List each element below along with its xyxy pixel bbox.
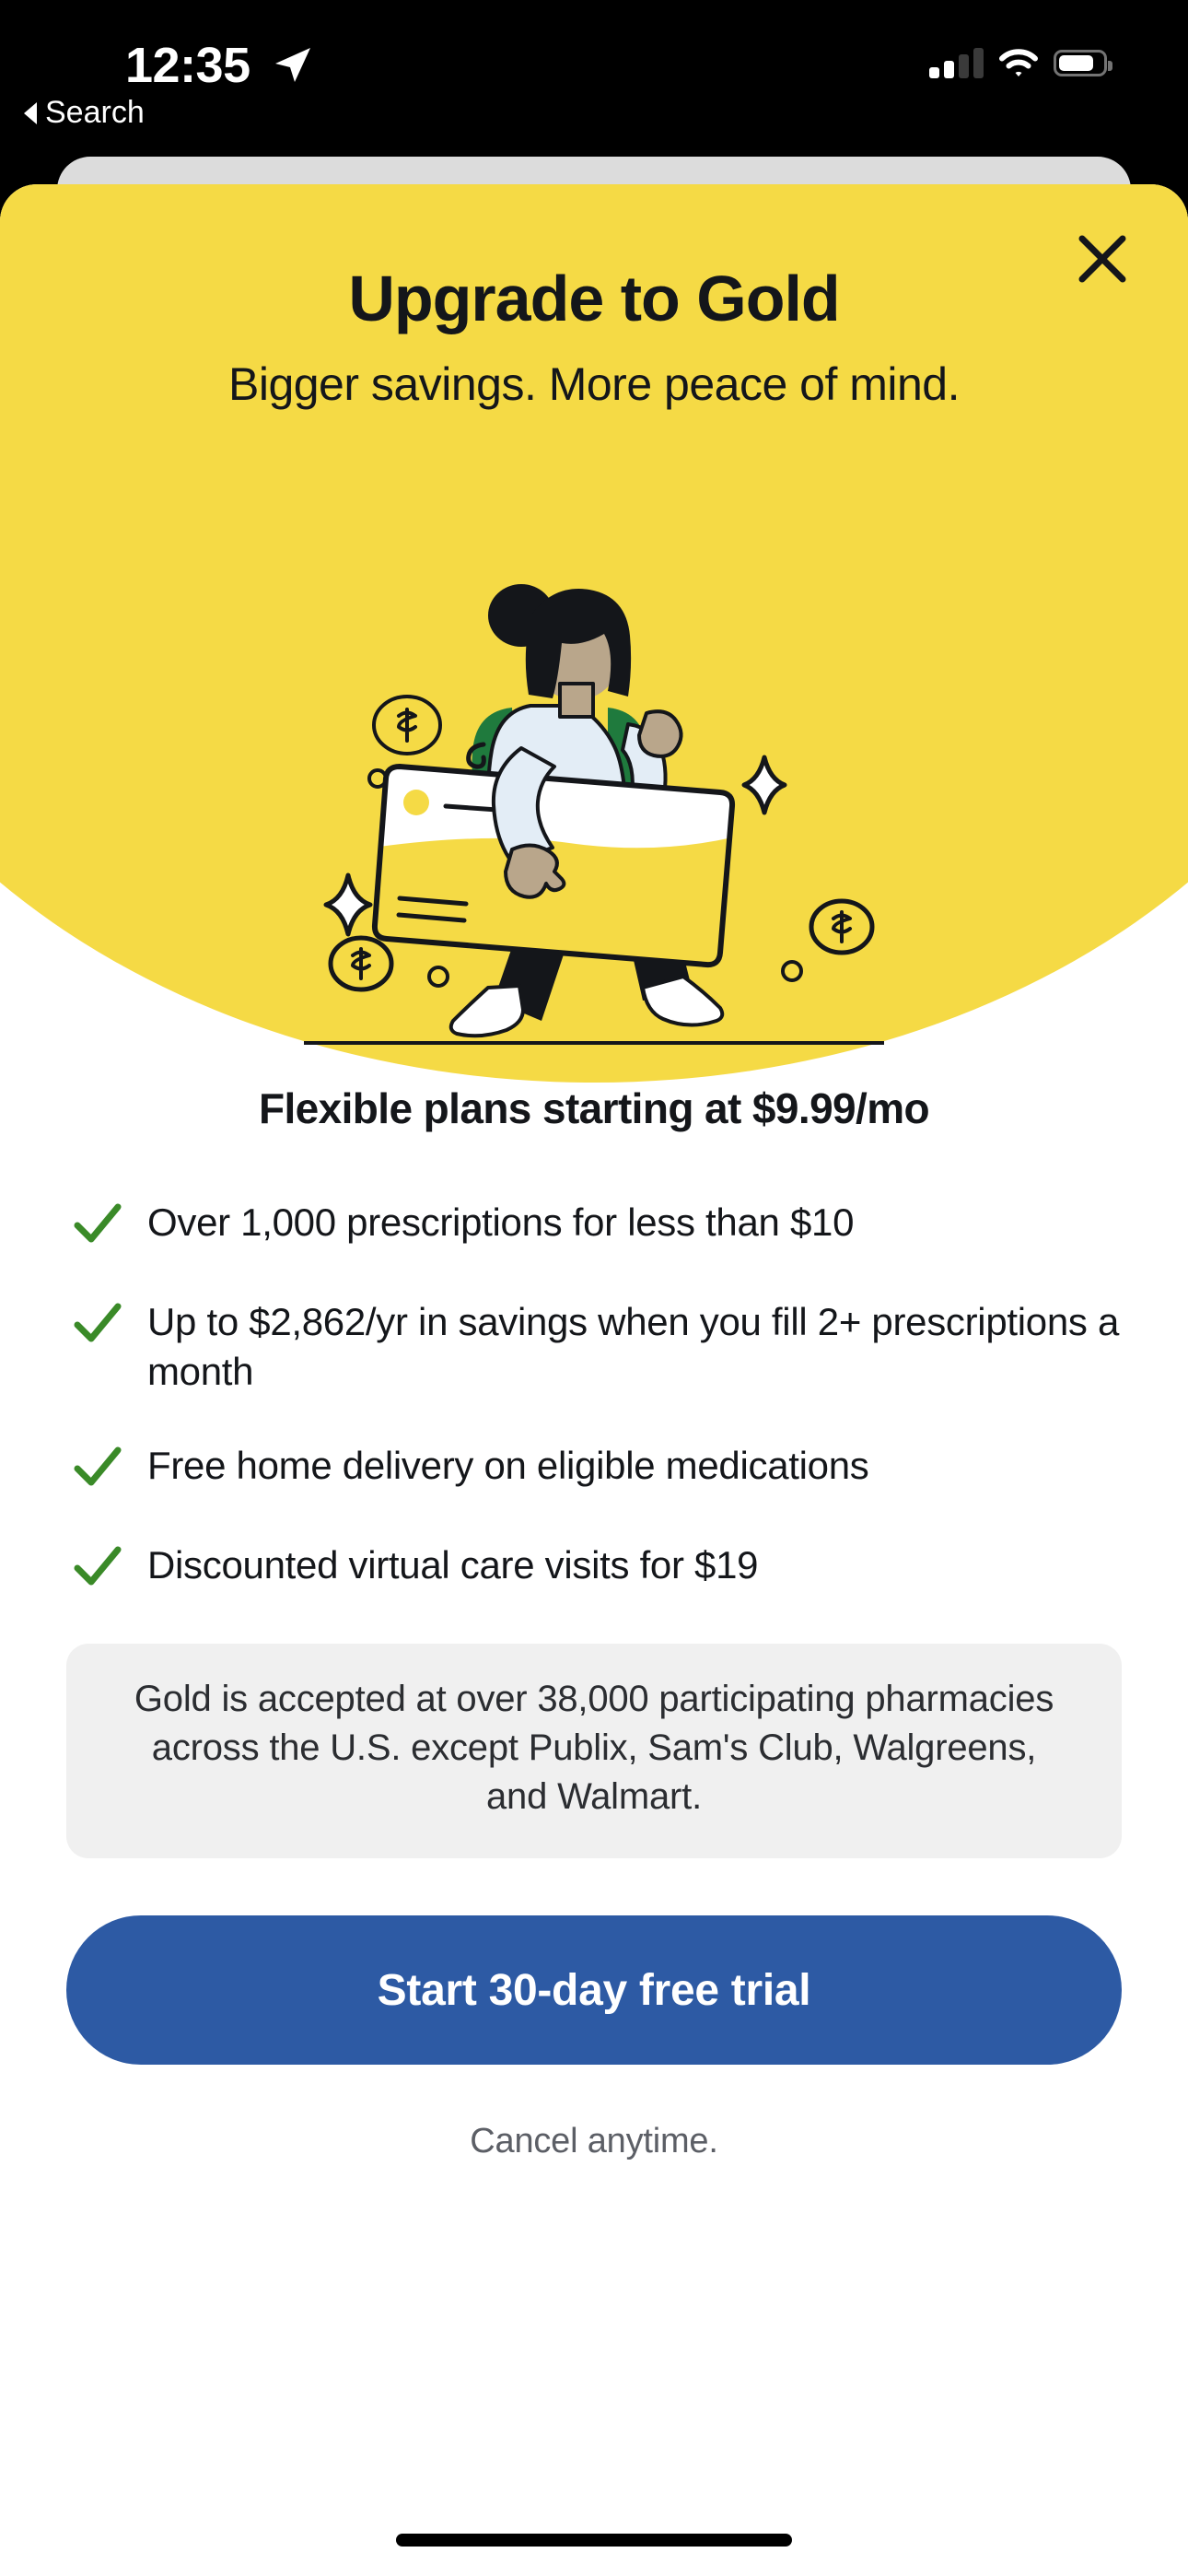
list-item: Discounted virtual care visits for $19: [72, 1537, 1120, 1596]
cancel-anytime-note: Cancel anytime.: [0, 2122, 1188, 2161]
coin-icon: [331, 938, 399, 996]
home-indicator[interactable]: [396, 2534, 792, 2547]
battery-icon: [1054, 50, 1107, 76]
feature-text: Up to $2,862/yr in savings when you fill…: [147, 1294, 1120, 1397]
check-icon: [72, 1540, 123, 1596]
status-bar-time: 12:35: [125, 37, 250, 94]
check-icon: [72, 1441, 123, 1496]
close-button[interactable]: [1065, 221, 1140, 297]
feature-text: Discounted virtual care visits for $19: [147, 1537, 758, 1590]
location-arrow-icon: [272, 44, 312, 85]
list-item: Free home delivery on eligible medicatio…: [72, 1437, 1120, 1496]
page-title: Upgrade to Gold: [0, 262, 1188, 335]
wifi-icon: [998, 49, 1039, 78]
back-to-search-link[interactable]: Search: [24, 95, 145, 131]
coin-icon: [374, 697, 440, 754]
phone-screen: 12:35 Search: [0, 0, 1188, 2576]
cellular-signal-icon: [929, 48, 984, 78]
acceptance-notice: Gold is accepted at over 38,000 particip…: [66, 1644, 1122, 1859]
feature-text: Free home delivery on eligible medicatio…: [147, 1437, 868, 1491]
feature-list: Over 1,000 prescriptions for less than $…: [0, 1194, 1188, 1596]
close-icon: [1075, 231, 1130, 287]
list-item: Up to $2,862/yr in savings when you fill…: [72, 1294, 1120, 1397]
start-free-trial-button[interactable]: Start 30-day free trial: [66, 1915, 1122, 2065]
page-subtitle: Bigger savings. More peace of mind.: [0, 357, 1188, 411]
status-bar-indicators: [929, 48, 1107, 78]
feature-text: Over 1,000 prescriptions for less than $…: [147, 1194, 854, 1247]
upgrade-modal-sheet: Upgrade to Gold Bigger savings. More pea…: [0, 184, 1188, 2576]
check-icon: [72, 1198, 123, 1253]
coin-icon: [811, 901, 879, 959]
main-content: Flexible plans starting at $9.99/mo Over…: [0, 1106, 1188, 2161]
back-triangle-icon: [24, 102, 37, 124]
back-link-label: Search: [45, 95, 145, 131]
status-bar: 12:35 Search: [0, 0, 1188, 161]
person-walking-with-gold-card-illustration: [304, 571, 884, 1069]
list-item: Over 1,000 prescriptions for less than $…: [72, 1194, 1120, 1253]
check-icon: [72, 1297, 123, 1352]
plans-heading: Flexible plans starting at $9.99/mo: [0, 1083, 1188, 1133]
